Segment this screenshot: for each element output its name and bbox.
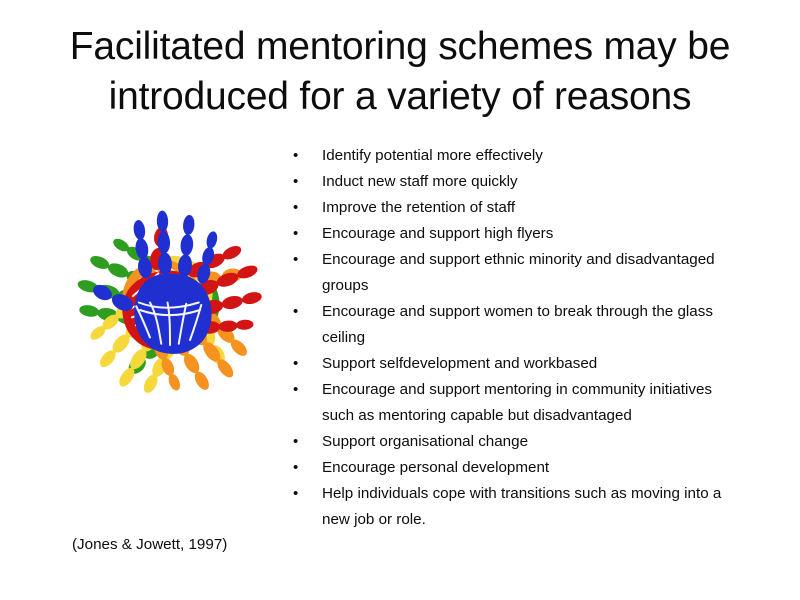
handprints-circle-image	[44, 180, 296, 430]
page-title: Facilitated mentoring schemes may be int…	[40, 22, 760, 122]
list-item-label: Encourage and support women to break thr…	[322, 299, 740, 351]
source-citation: (Jones & Jowett, 1997)	[72, 534, 227, 556]
list-item-label: Encourage and support mentoring in commu…	[322, 377, 740, 429]
list-item-label: Support organisational change	[322, 429, 740, 455]
bullet-marker-icon: •	[288, 169, 322, 195]
bullet-marker-icon: •	[288, 351, 322, 377]
handprints-svg	[44, 180, 296, 430]
list-item: • Encourage and support ethnic minority …	[288, 247, 748, 299]
list-item-label: Identify potential more effectively	[322, 143, 740, 169]
bullet-marker-icon: •	[288, 455, 322, 481]
bullet-marker-icon: •	[288, 143, 322, 169]
bullet-marker-icon: •	[288, 195, 322, 221]
list-item: • Support organisational change	[288, 429, 748, 455]
bullet-marker-icon: •	[288, 429, 322, 455]
list-item: • Encourage and support high flyers	[288, 221, 748, 247]
bullet-marker-icon: •	[288, 481, 322, 507]
list-item: • Identify potential more effectively	[288, 143, 748, 169]
list-item-label: Encourage personal development	[322, 455, 740, 481]
hand-blue	[90, 210, 218, 353]
list-item-label: Induct new staff more quickly	[322, 169, 740, 195]
list-item-label: Support selfdevelopment and workbased	[322, 351, 740, 377]
bullet-marker-icon: •	[288, 247, 322, 273]
list-item: • Encourage and support women to break t…	[288, 299, 748, 351]
list-item: • Encourage personal development	[288, 455, 748, 481]
bullet-marker-icon: •	[288, 299, 322, 325]
list-item: • Improve the retention of staff	[288, 195, 748, 221]
slide-canvas: Facilitated mentoring schemes may be int…	[0, 0, 800, 600]
list-item: • Help individuals cope with transitions…	[288, 481, 748, 533]
list-item-label: Help individuals cope with transitions s…	[322, 481, 740, 533]
bullet-marker-icon: •	[288, 221, 322, 247]
list-item-label: Encourage and support high flyers	[322, 221, 740, 247]
list-item-label: Encourage and support ethnic minority an…	[322, 247, 740, 299]
bullet-marker-icon: •	[288, 377, 322, 403]
reasons-bullet-list: • Identify potential more effectively • …	[288, 143, 748, 533]
list-item: • Encourage and support mentoring in com…	[288, 377, 748, 429]
list-item: • Support selfdevelopment and workbased	[288, 351, 748, 377]
list-item-label: Improve the retention of staff	[322, 195, 740, 221]
list-item: • Induct new staff more quickly	[288, 169, 748, 195]
